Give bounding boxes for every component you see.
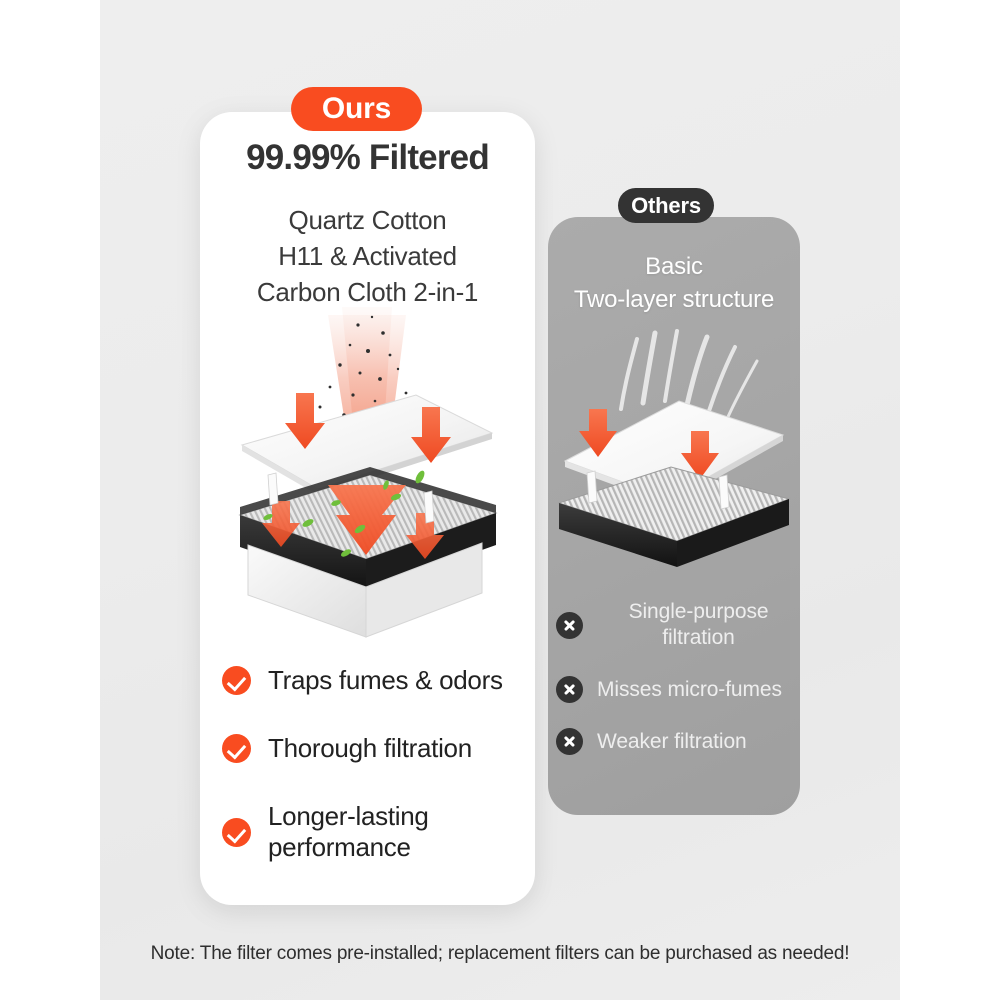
- others-badge: Others: [618, 188, 714, 223]
- others-subtitle-line-2: Two-layer structure: [548, 283, 800, 316]
- ours-subtitle-line-3: Carbon Cloth 2-in-1: [200, 274, 535, 310]
- list-item: Traps fumes & odors: [222, 665, 532, 696]
- others-feature-label: Misses micro-fumes: [597, 677, 782, 703]
- check-circle-icon: [222, 666, 251, 695]
- list-item: Single-purpose filtration: [556, 599, 800, 651]
- others-comparison-card: Basic Two-layer structure: [548, 217, 800, 815]
- check-circle-icon: [222, 818, 251, 847]
- others-filter-illustration: [551, 327, 797, 579]
- ours-feature-list: Traps fumes & odors Thorough filtration …: [222, 665, 532, 863]
- ours-comparison-card: 99.99% Filtered Quartz Cotton H11 & Acti…: [200, 112, 535, 905]
- list-item: Misses micro-fumes: [556, 676, 800, 703]
- others-feature-label: Single-purpose filtration: [597, 599, 800, 651]
- ours-headline: 99.99% Filtered: [200, 138, 535, 178]
- list-item: Weaker filtration: [556, 728, 800, 755]
- infographic-root: 99.99% Filtered Quartz Cotton H11 & Acti…: [0, 0, 1000, 1000]
- check-circle-icon: [222, 734, 251, 763]
- x-circle-icon: [556, 612, 583, 639]
- x-circle-icon: [556, 728, 583, 755]
- ours-feature-label: Thorough filtration: [268, 733, 472, 764]
- others-subtitle: Basic Two-layer structure: [548, 250, 800, 316]
- x-circle-icon: [556, 676, 583, 703]
- ours-feature-label: Traps fumes & odors: [268, 665, 503, 696]
- ours-feature-label: Longer-lasting performance: [268, 801, 532, 863]
- others-feature-list: Single-purpose filtration Misses micro-f…: [556, 599, 800, 755]
- list-item: Longer-lasting performance: [222, 801, 532, 863]
- ours-subtitle: Quartz Cotton H11 & Activated Carbon Clo…: [200, 202, 535, 310]
- others-feature-label: Weaker filtration: [597, 729, 747, 755]
- ours-badge: Ours: [291, 87, 422, 131]
- list-item: Thorough filtration: [222, 733, 532, 764]
- ours-filter-illustration: [210, 307, 525, 652]
- ours-subtitle-line-1: Quartz Cotton: [200, 202, 535, 238]
- ours-subtitle-line-2: H11 & Activated: [200, 238, 535, 274]
- others-subtitle-line-1: Basic: [548, 250, 800, 283]
- footer-note: Note: The filter comes pre-installed; re…: [100, 943, 900, 965]
